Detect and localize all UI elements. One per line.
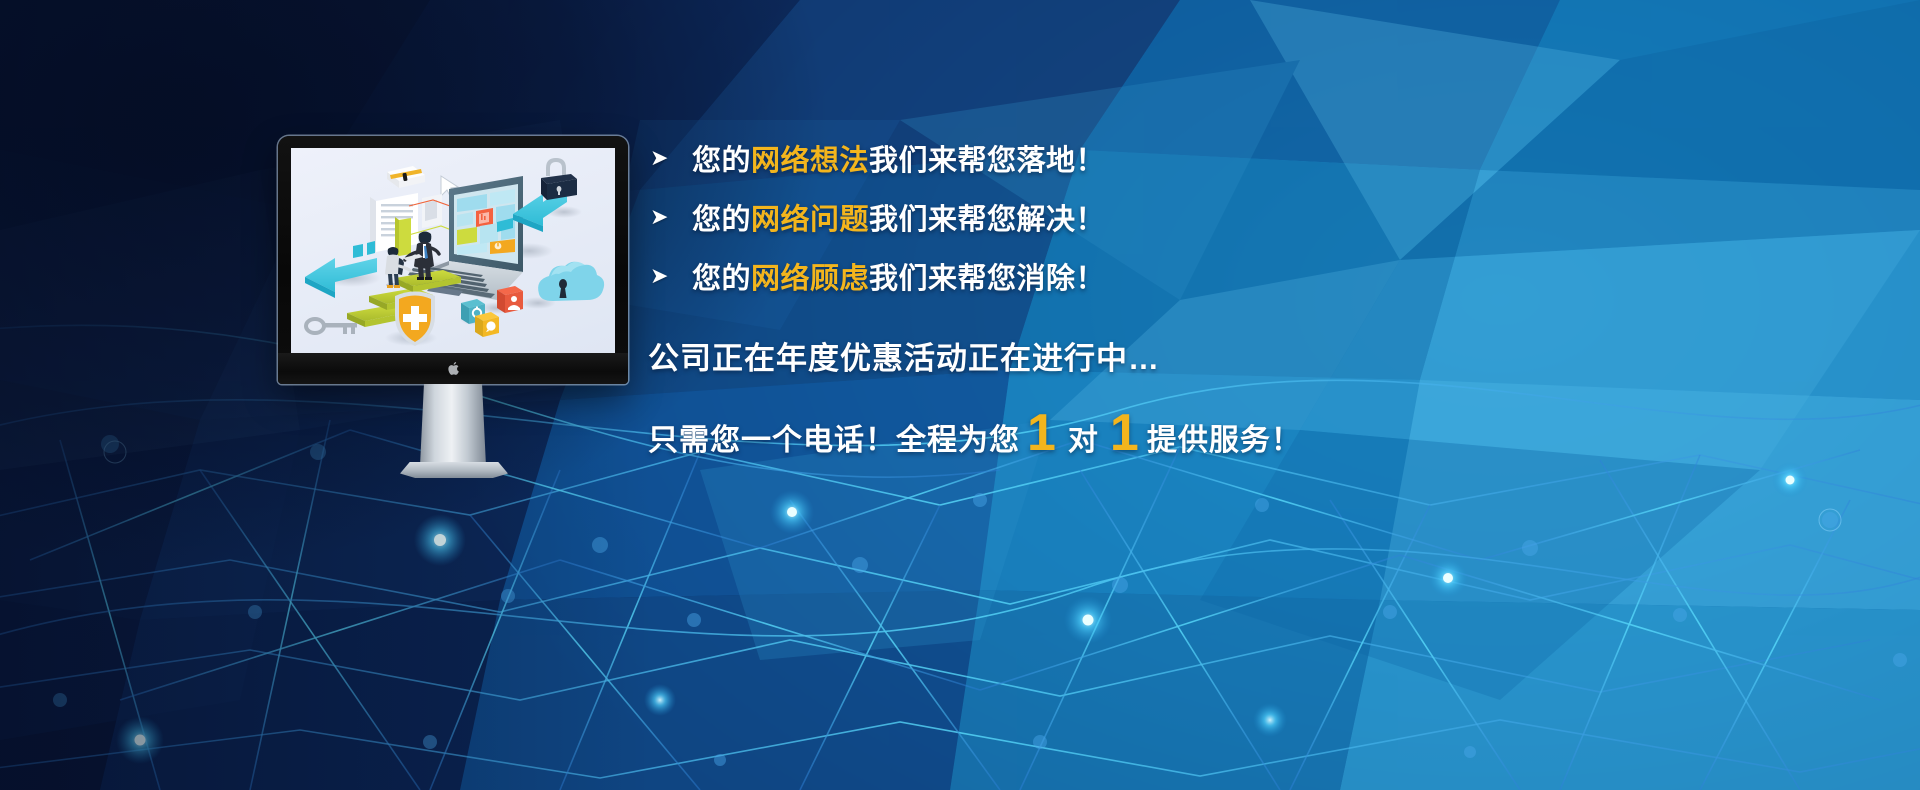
bullet-item-1: ➤ 您的网络想法我们来帮您落地！ — [648, 128, 1548, 187]
user-app-icon — [497, 286, 523, 313]
bullet-1-prefix: 您的 — [692, 145, 751, 177]
monitor-stand-foot — [400, 462, 508, 478]
isometric-scene — [291, 148, 615, 353]
monitor-bezel — [278, 136, 628, 384]
service-number-first: 1 — [1020, 410, 1064, 457]
bullet-text-2: 您的网络问题我们来帮您解决！ — [692, 196, 1105, 238]
bullet-1-highlight: 网络想法 — [751, 145, 869, 177]
bullet-3-highlight: 网络顾虑 — [751, 263, 869, 295]
service-headline: 只需您一个电话！全程为您 1 对 1 提供服务！ — [648, 410, 1548, 459]
service-lead-text: 只需您一个电话！全程为您 — [648, 415, 1020, 459]
arrow-marker-icon: ➤ — [648, 265, 692, 287]
monitor-stand-neck — [420, 384, 486, 466]
bullet-3-prefix: 您的 — [692, 263, 751, 295]
padlock — [541, 158, 577, 200]
imac-monitor-illustration — [278, 136, 628, 456]
promo-banner: ➤ 您的网络想法我们来帮您落地！ ➤ 您的网络问题我们来帮您解决！ ➤ 您的网络… — [0, 0, 1920, 790]
bullet-2-suffix: 我们来帮您解决！ — [869, 204, 1105, 236]
bullet-2-prefix: 您的 — [692, 204, 751, 236]
bullet-1-suffix: 我们来帮您落地！ — [869, 145, 1105, 177]
arrow-marker-icon: ➤ — [648, 147, 692, 169]
bullet-text-1: 您的网络想法我们来帮您落地！ — [692, 137, 1105, 179]
promotion-headline: 公司正在年度优惠活动正在进行中… — [648, 333, 1548, 378]
bullet-text-3: 您的网络顾虑我们来帮您消除！ — [692, 255, 1105, 297]
service-tail-text: 提供服务！ — [1147, 415, 1302, 459]
arrow-marker-icon: ➤ — [648, 206, 692, 228]
bullet-item-3: ➤ 您的网络顾虑我们来帮您消除！ — [648, 246, 1548, 305]
chat-app-icon — [475, 312, 499, 337]
monitor-screen — [291, 148, 615, 353]
grey-key — [306, 319, 357, 334]
apple-logo-icon — [448, 362, 459, 375]
service-mid-text: 对 — [1064, 415, 1103, 459]
gold-key-card — [387, 166, 425, 188]
cyan-left-arrow — [305, 241, 377, 298]
marketing-copy-block: ➤ 您的网络想法我们来帮您落地！ ➤ 您的网络问题我们来帮您解决！ ➤ 您的网络… — [648, 128, 1548, 459]
monitor-chin — [278, 353, 628, 384]
cloud-with-keyhole — [538, 262, 604, 301]
service-number-second: 1 — [1103, 410, 1147, 457]
bullet-3-suffix: 我们来帮您消除！ — [869, 263, 1105, 295]
bullet-item-2: ➤ 您的网络问题我们来帮您解决！ — [648, 187, 1548, 246]
bullet-2-highlight: 网络问题 — [751, 204, 869, 236]
